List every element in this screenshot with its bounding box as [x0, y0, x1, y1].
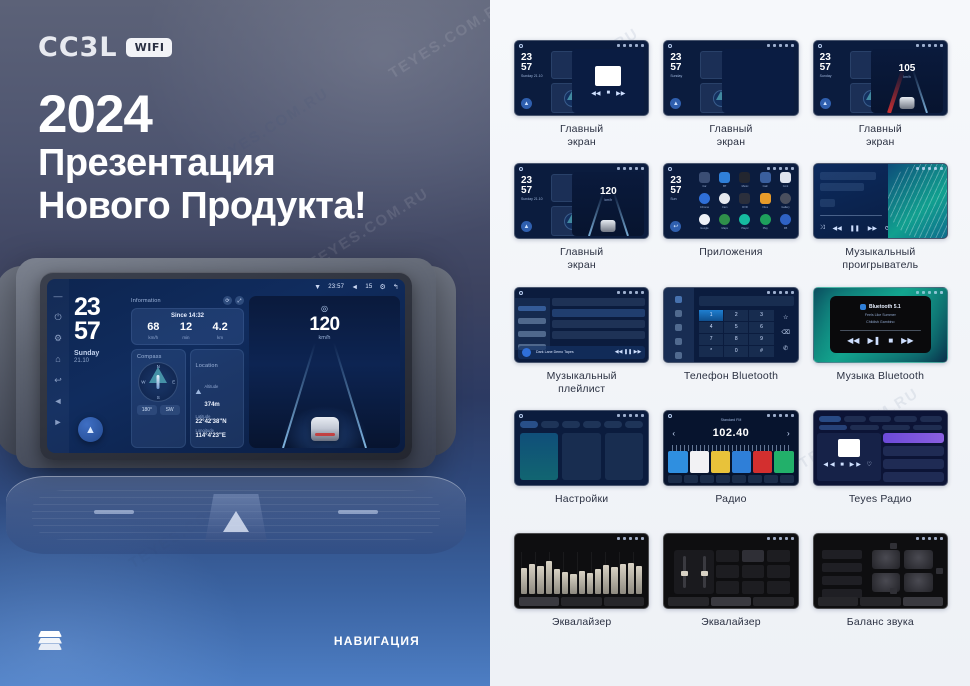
teyes-station-list[interactable] — [883, 433, 944, 481]
eq-band[interactable] — [595, 569, 601, 593]
back-icon[interactable]: ↩ — [53, 375, 63, 385]
hud-speed: 120 — [309, 314, 339, 336]
eq-sliders[interactable] — [521, 552, 642, 594]
eq-band[interactable] — [570, 574, 576, 594]
preset-pop[interactable] — [716, 550, 738, 563]
stat-value: 68 — [147, 322, 159, 333]
thumb-clock: 2357Sunday 21.10 — [521, 176, 543, 201]
preset-bass[interactable] — [767, 565, 789, 578]
playlist-row[interactable] — [552, 298, 645, 306]
tab-fader — [711, 597, 751, 606]
settings-panels[interactable] — [520, 433, 643, 480]
information-header: Information ⟳ ⤢ — [131, 296, 244, 305]
eq-band[interactable] — [611, 567, 617, 594]
status-icons — [916, 167, 943, 170]
volume-up-icon[interactable]: ► — [53, 417, 63, 427]
car-icon — [899, 97, 914, 109]
gallery-item[interactable]: Standard FM 102.40 ‹ › Радио — [663, 410, 798, 529]
balance-options[interactable] — [822, 550, 862, 592]
stop-icon: ■ — [607, 90, 611, 97]
thumb-clock: 2357Sun — [670, 176, 681, 201]
navigation-fab[interactable]: ▲ — [521, 221, 532, 232]
navigation-label: НАВИГАЦИЯ — [334, 634, 420, 648]
thumb-clock: 2357Sunday — [670, 53, 682, 78]
navigation-fab[interactable]: ▲ — [521, 98, 532, 109]
station-row[interactable] — [883, 446, 944, 456]
thumbnail-apps[interactable]: 2357Sun ↩ Car BT Music Calc Cont Chrome … — [663, 163, 798, 239]
thumbnail-home-hud[interactable]: 2357Sunday 21.10 ▲ 120 km/h — [514, 163, 649, 239]
hero-footer: НАВИГАЦИЯ — [0, 590, 490, 686]
hero-panel: TEYES.COM.RU TEYES.COM.RU TEYES.COM.RU T… — [0, 0, 490, 686]
thumbnail-sound-balance[interactable] — [813, 533, 948, 609]
key-2[interactable]: 2 — [724, 310, 748, 321]
key-3[interactable]: 3 — [749, 310, 773, 321]
headline: 2024 Презентация Нового Продукта! — [38, 88, 366, 227]
head-unit-bezel: — ⏻ ⚙ ⌂ ↩ ◄ ► ▼ 23:57 ◄ 15 — [40, 272, 412, 460]
balance-option[interactable] — [822, 576, 862, 585]
altitude-label: Altitude — [204, 384, 218, 389]
information-widget[interactable]: Information ⟳ ⤢ Since 14:32 — [131, 296, 244, 345]
eq-band[interactable] — [603, 565, 609, 594]
app-icon-google[interactable]: Google — [696, 214, 712, 232]
app-icon-play-store[interactable]: Play — [757, 214, 773, 232]
tab-about[interactable] — [625, 421, 643, 428]
headline-line-2: Нового Продукта! — [38, 185, 366, 228]
app-icon-music-player[interactable]: Player — [737, 214, 753, 232]
car-icon — [601, 220, 616, 232]
station-row[interactable] — [883, 472, 944, 482]
location-widget[interactable]: Location ⛰ Altitude 374m — [190, 349, 245, 448]
seat-balance-pad[interactable] — [872, 550, 933, 592]
eq-footer-tabs[interactable] — [519, 597, 644, 606]
longitude-value: 114°4'23"E — [196, 433, 239, 439]
now-playing-bar[interactable]: Dark Lane Demo Tapes ◀◀ ❚❚ ▶▶ — [518, 346, 645, 359]
gallery-caption: Радио — [715, 493, 746, 519]
eq-footer-tabs[interactable] — [668, 597, 793, 606]
compass-widget[interactable]: Compass N E S W — [131, 349, 186, 448]
hud-widget[interactable]: ◎ 120 km/h — [249, 296, 400, 448]
navigation-fab[interactable]: ▲ — [670, 98, 681, 109]
key-9[interactable]: 9 — [749, 334, 773, 345]
app-icon-car[interactable]: Car — [696, 172, 712, 190]
gallery-item[interactable]: Настройки — [514, 410, 649, 529]
power-icon[interactable]: ⏻ — [53, 312, 63, 322]
preset-custom[interactable] — [767, 581, 789, 594]
preset-rock[interactable] — [742, 550, 764, 563]
playlist-row[interactable] — [552, 309, 645, 317]
thumbnail-settings[interactable] — [514, 410, 649, 486]
volume-icon[interactable]: ◄ — [351, 284, 358, 291]
preset-2[interactable] — [690, 451, 709, 473]
thumbnail-bluetooth-phone[interactable]: 1 2 3 4 5 6 7 8 9 * 0 # ☆ — [663, 287, 798, 363]
minus-icon[interactable]: — — [53, 291, 63, 301]
preset-6[interactable] — [774, 451, 793, 473]
playlist-rows[interactable] — [552, 298, 645, 344]
navigation-fab[interactable]: ▲ — [820, 98, 831, 109]
home-icon — [818, 44, 822, 48]
seat-front-right[interactable] — [904, 550, 933, 569]
preset-live[interactable] — [742, 581, 764, 594]
thumbnail-home-apps[interactable]: 2357Sunday ▲ — [663, 40, 798, 116]
eq-band[interactable] — [562, 572, 568, 594]
hud-unit: km/h — [319, 335, 331, 341]
app-icon-chrome[interactable]: Chrome — [696, 193, 712, 211]
app-icon-gallery[interactable]: Gallery — [777, 193, 793, 211]
media-controls[interactable]: ◀◀ ❚❚ ▶▶ — [615, 349, 642, 355]
contacts-icon — [675, 310, 682, 317]
thumbnail-home-hud-red[interactable]: 2357Sunday ▲ 105 km/h — [813, 40, 948, 116]
preset-1[interactable] — [668, 451, 687, 473]
media-controls[interactable]: ◀◀ ■ ▶▶ ♡ — [817, 461, 881, 468]
compass-s: S — [157, 395, 160, 400]
media-controls[interactable]: ◀◀▶❚■▶▶ — [847, 336, 913, 345]
station-row[interactable] — [883, 459, 944, 469]
layers-icon — [38, 628, 62, 650]
latitude-block: Latitude 22°42'38"N — [196, 414, 239, 425]
key-6[interactable]: 6 — [749, 322, 773, 333]
app-icon-bluetooth[interactable]: BT — [717, 172, 733, 190]
thumb-hud: 120 km/h — [572, 172, 644, 236]
gallery-item[interactable]: ◀◀ ■ ▶▶ ♡ Teyes Радио — [813, 410, 948, 529]
tab-balance — [753, 597, 793, 606]
preset-grid[interactable] — [716, 550, 789, 594]
thumb-app-shortcuts — [722, 49, 794, 113]
settings-icon[interactable]: ⚙ — [53, 333, 63, 343]
gallery-item[interactable]: 2357Sunday ▲ 105 km/h Главныйэкран — [813, 40, 948, 159]
altitude-row: ⛰ Altitude 374m — [196, 375, 239, 411]
home-icon — [519, 291, 523, 295]
gallery-item[interactable]: Bluetooth 5.1 Feels Like Summer Childish… — [813, 287, 948, 406]
tab-eq — [519, 597, 559, 606]
album-art — [595, 66, 621, 86]
gallery-caption: Музыкальныйпроигрыватель — [842, 246, 918, 272]
preset-flat[interactable] — [716, 581, 738, 594]
wifi-icon: ▼ — [314, 284, 321, 291]
preset-classic[interactable] — [716, 565, 738, 578]
gallery-grid: 2357Sunday 21.10 ▲ ◀◀■▶▶ Главныйэкран — [514, 40, 948, 652]
vent-slot-left — [94, 510, 134, 514]
clock-column: 23 57 Sunday 21.10 ▲ — [74, 296, 126, 448]
backspace-icon[interactable]: ⌫ — [781, 329, 789, 336]
gallery-caption: Главныйэкран — [709, 123, 752, 149]
altitude-value: 374m — [204, 402, 219, 408]
head-unit-screen[interactable]: — ⏻ ⚙ ⌂ ↩ ◄ ► ▼ 23:57 ◄ 15 — [47, 279, 405, 453]
gallery-caption: Телефон Bluetooth — [684, 370, 778, 396]
radio-band: Standard FM — [664, 418, 797, 422]
station-row[interactable] — [883, 433, 944, 443]
speed-gauge-icon: ◎ — [321, 304, 328, 313]
phone-nav[interactable] — [664, 288, 693, 362]
gallery-item[interactable]: Эквалайзер — [663, 533, 798, 652]
dialpad-icon — [675, 296, 682, 303]
trip-since: Since 14:32 — [137, 313, 238, 319]
key-hash[interactable]: # — [749, 346, 773, 357]
gallery-item[interactable]: 2357Sunday 21.10 ▲ ◀◀■▶▶ Главныйэкран — [514, 40, 649, 159]
gear-icon[interactable]: ⚙ — [379, 283, 385, 291]
gallery-caption: Музыкальныйплейлист — [547, 370, 617, 396]
next-icon: ▶▶ — [901, 336, 913, 345]
home-icon — [519, 167, 523, 171]
brand-logo: CC3L WIFI — [38, 32, 172, 63]
latitude-value: 22°42'38"N — [196, 419, 239, 425]
eq-band[interactable] — [620, 564, 626, 593]
seek-down-icon[interactable]: ‹ — [672, 429, 675, 438]
arrow-up-button[interactable] — [890, 543, 897, 549]
mountain-icon: ⛰ — [196, 389, 202, 397]
eq-band[interactable] — [546, 561, 552, 594]
gallery-caption: Эквалайзер — [552, 616, 612, 642]
fader-sliders[interactable] — [674, 550, 714, 594]
arrow-down-button[interactable] — [890, 588, 897, 594]
subtab-fav[interactable] — [850, 425, 879, 430]
tab-more[interactable] — [920, 416, 942, 422]
status-icons — [916, 44, 943, 47]
vent-slot-right — [338, 510, 378, 514]
app-icon-maps[interactable]: Maps — [717, 214, 733, 232]
media-controls[interactable]: ⤨◀◀❚❚▶▶⟳ — [820, 225, 890, 232]
preset-jazz[interactable] — [767, 550, 789, 563]
bt-track: Feels Like Summer — [865, 313, 896, 317]
gallery-item[interactable]: ⤨◀◀❚❚▶▶⟳ Музыкальныйпроигрыватель — [813, 163, 948, 282]
compass-needle-icon — [157, 375, 160, 389]
refresh-icon[interactable]: ⟳ — [223, 296, 232, 305]
next-icon: ▶▶ — [616, 90, 625, 97]
eq-band[interactable] — [521, 568, 527, 594]
arrow-right-button[interactable] — [936, 568, 943, 574]
status-time: 23:57 — [328, 284, 344, 290]
balance-option[interactable] — [822, 550, 862, 559]
back-fab[interactable]: ↩ — [670, 221, 681, 232]
eq-band[interactable] — [628, 563, 634, 594]
home-widgets: 23 57 Sunday 21.10 ▲ — [74, 283, 400, 448]
eq-band[interactable] — [554, 569, 560, 594]
status-icons — [767, 291, 794, 294]
gallery-caption: Музыка Bluetooth — [837, 370, 925, 396]
headline-line-1: Презентация — [38, 142, 366, 185]
prev-icon: ◀◀ — [591, 90, 600, 97]
stat-value: 12 — [180, 322, 192, 333]
thumbnail-radio[interactable]: Standard FM 102.40 ‹ › — [663, 410, 798, 486]
gallery-item[interactable]: Эквалайзер — [514, 533, 649, 652]
teyes-sub-tabs[interactable] — [819, 425, 942, 430]
playlist-nav[interactable] — [515, 298, 550, 350]
app-icon-contacts[interactable]: Cont — [777, 172, 793, 190]
balance-option[interactable] — [822, 563, 862, 572]
stat-value: 4.2 — [212, 322, 227, 333]
compass-dial: N E S W — [138, 362, 178, 402]
compass-readout: 180° SW — [137, 405, 180, 415]
eq-band[interactable] — [579, 571, 585, 594]
panel-more[interactable] — [605, 433, 643, 480]
radio-dock[interactable] — [668, 475, 793, 483]
clock-day: Sunday — [74, 350, 126, 357]
settings-tabs[interactable] — [520, 421, 643, 428]
gallery-caption: Главныйэкран — [560, 246, 603, 272]
tab-fader — [561, 597, 601, 606]
gallery-item[interactable]: Dark Lane Demo Tapes ◀◀ ❚❚ ▶▶ Музыкальны… — [514, 287, 649, 406]
seat-rear-right[interactable] — [904, 573, 933, 592]
thumbnail-teyes-radio[interactable]: ◀◀ ■ ▶▶ ♡ — [813, 410, 948, 486]
app-icon-music[interactable]: Music — [737, 172, 753, 190]
volume-down-icon[interactable]: ◄ — [53, 396, 63, 406]
play-pause-icon: ▶❚ — [867, 336, 880, 345]
thumbnail-equalizer-bars[interactable] — [514, 533, 649, 609]
subtab-recent[interactable] — [882, 425, 911, 430]
app-icon-calculator[interactable]: Calc — [757, 172, 773, 190]
key-7[interactable]: 7 — [699, 334, 723, 345]
tab-eq — [818, 597, 858, 606]
dial-keypad[interactable]: 1 2 3 4 5 6 7 8 9 * 0 # — [699, 310, 774, 357]
player-left: ⤨◀◀❚❚▶▶⟳ — [814, 164, 889, 238]
screen-side-rail[interactable]: — ⏻ ⚙ ⌂ ↩ ◄ ► — [47, 279, 69, 453]
compass-w: W — [141, 380, 145, 385]
gallery-item[interactable]: 2357Sunday ▲ Главныйэкран — [663, 40, 798, 159]
stat-unit: km — [212, 335, 227, 340]
prev-icon: ◀◀ — [847, 336, 859, 345]
app-icon-dvr[interactable]: DVR — [737, 193, 753, 211]
thumbnail-equalizer-presets[interactable] — [663, 533, 798, 609]
app-icon-camera[interactable]: Cam — [717, 193, 733, 211]
fader-left[interactable] — [683, 556, 686, 588]
status-icons — [767, 414, 794, 417]
thumbnail-music-player[interactable]: ⤨◀◀❚❚▶▶⟳ — [813, 163, 948, 239]
status-icons — [767, 44, 794, 47]
car-dashboard: — ⏻ ⚙ ⌂ ↩ ◄ ► ▼ 23:57 ◄ 15 — [0, 250, 490, 550]
thumbnail-home-media[interactable]: 2357Sunday 21.10 ▲ ◀◀■▶▶ — [514, 40, 649, 116]
tab-wifi[interactable] — [520, 421, 538, 428]
wifi-badge: WIFI — [126, 38, 173, 57]
gallery-item[interactable]: 1 2 3 4 5 6 7 8 9 * 0 # ☆ — [663, 287, 798, 406]
album-art — [838, 439, 860, 457]
eq-band[interactable] — [587, 573, 593, 594]
gallery-item[interactable]: Баланс звука — [813, 533, 948, 652]
presentation-page: TEYES.COM.RU TEYES.COM.RU TEYES.COM.RU T… — [0, 0, 970, 686]
radio-frequency: 102.40 — [664, 427, 797, 439]
key-1[interactable]: 1 — [699, 310, 723, 321]
teyes-top-tabs[interactable] — [819, 416, 942, 422]
subtab-genre[interactable] — [913, 425, 942, 430]
stop-icon: ■ — [888, 336, 893, 345]
home-icon[interactable]: ⌂ — [53, 354, 63, 364]
preset-4[interactable] — [732, 451, 751, 473]
playlist-row[interactable] — [552, 331, 645, 339]
key-4[interactable]: 4 — [699, 322, 723, 333]
expand-icon[interactable]: ⤢ — [235, 296, 244, 305]
tab-live[interactable] — [819, 416, 841, 422]
status-icons — [767, 167, 794, 170]
playlist-row[interactable] — [552, 320, 645, 328]
seat-front-left[interactable] — [872, 550, 901, 569]
gallery-caption: Баланс звука — [847, 616, 914, 642]
hazard-button[interactable] — [205, 494, 267, 542]
air-vent-bar — [6, 476, 466, 554]
home-icon — [519, 44, 523, 48]
media-controls[interactable]: ◀◀■▶▶ — [591, 90, 625, 97]
panel-wifi[interactable] — [520, 433, 558, 480]
subtab-all[interactable] — [819, 425, 848, 430]
hud-unit: km/h — [903, 75, 911, 79]
app-icon-facebook[interactable]: FB — [777, 214, 793, 232]
thumbnail-bluetooth-music[interactable]: Bluetooth 5.1 Feels Like Summer Childish… — [813, 287, 948, 363]
thumb-clock: 2357Sunday — [820, 53, 832, 78]
radio-presets[interactable] — [668, 451, 793, 473]
thumb-hud: 105 km/h — [871, 49, 943, 113]
trip-stat-row: 68 km/h 12 min — [137, 322, 238, 340]
clock-date: 21.10 — [74, 358, 126, 364]
gallery-item[interactable]: 2357Sunday 21.10 ▲ 120 km/h Главныйэкран — [514, 163, 649, 282]
gallery-caption: Приложения — [699, 246, 762, 272]
dial-side-actions[interactable]: ☆ ⌫ ✆ — [776, 310, 796, 357]
app-icon-files[interactable]: Files — [757, 193, 773, 211]
shuffle-icon: ⤨ — [820, 225, 825, 232]
bt-title: Bluetooth 5.1 — [869, 304, 901, 310]
thumbnail-music-playlist[interactable]: Dark Lane Demo Tapes ◀◀ ❚❚ ▶▶ — [514, 287, 649, 363]
progress-bar[interactable] — [820, 215, 883, 217]
navigation-fab[interactable]: ▲ — [78, 417, 103, 442]
key-8[interactable]: 8 — [724, 334, 748, 345]
call-icon[interactable]: ✆ — [783, 345, 788, 352]
trip-stat: 12 min — [180, 322, 192, 340]
eq-band[interactable] — [529, 564, 535, 594]
panel-hotspot[interactable] — [562, 433, 600, 480]
tab-system[interactable] — [604, 421, 622, 428]
status-icons — [617, 414, 644, 417]
eq-band[interactable] — [636, 566, 642, 594]
pause-icon: ❚❚ — [850, 225, 860, 232]
tab-podcast[interactable] — [844, 416, 866, 422]
seek-up-icon[interactable]: › — [787, 429, 790, 438]
fader-right[interactable] — [703, 556, 706, 588]
key-star[interactable]: * — [699, 346, 723, 357]
tab-balance — [903, 597, 943, 606]
search-icon — [675, 324, 682, 331]
tab-display[interactable] — [562, 421, 580, 428]
compass-title: Compass — [137, 354, 180, 360]
tab-fader — [860, 597, 900, 606]
key-0[interactable]: 0 — [724, 346, 748, 357]
tab-music[interactable] — [869, 416, 891, 422]
eq-footer-tabs[interactable] — [818, 597, 943, 606]
compass-direction: SW — [160, 405, 180, 415]
preset-3[interactable] — [711, 451, 730, 473]
status-icons — [916, 537, 943, 540]
gallery-item[interactable]: 2357Sun ↩ Car BT Music Calc Cont Chrome … — [663, 163, 798, 282]
bt-media-card: Bluetooth 5.1 Feels Like Summer Childish… — [830, 296, 931, 352]
status-volume: 15 — [365, 284, 372, 290]
gallery-caption: Главныйэкран — [560, 123, 603, 149]
app-grid[interactable]: Car BT Music Calc Cont Chrome Cam DVR Fi… — [696, 172, 793, 232]
next-icon: ▶▶ — [868, 225, 877, 232]
preset-5[interactable] — [753, 451, 772, 473]
number-field[interactable] — [699, 296, 794, 306]
tab-apps[interactable] — [583, 421, 601, 428]
tab-eq — [668, 597, 708, 606]
brand-name: CC3L — [38, 32, 118, 63]
information-title: Information — [131, 298, 161, 304]
tab-balance — [604, 597, 644, 606]
tab-news[interactable] — [894, 416, 916, 422]
eq-band[interactable] — [537, 566, 543, 594]
back-arrow-icon[interactable]: ↰ — [393, 283, 399, 291]
key-5[interactable]: 5 — [724, 322, 748, 333]
preset-vocal[interactable] — [742, 565, 764, 578]
track-row — [820, 183, 864, 191]
gallery-caption: Teyes Радио — [849, 493, 912, 519]
longitude-block: Longitude 114°4'23"E — [196, 428, 239, 439]
tab-sound[interactable] — [541, 421, 559, 428]
progress-bar[interactable] — [840, 330, 921, 332]
favorite-icon[interactable]: ☆ — [783, 314, 788, 321]
